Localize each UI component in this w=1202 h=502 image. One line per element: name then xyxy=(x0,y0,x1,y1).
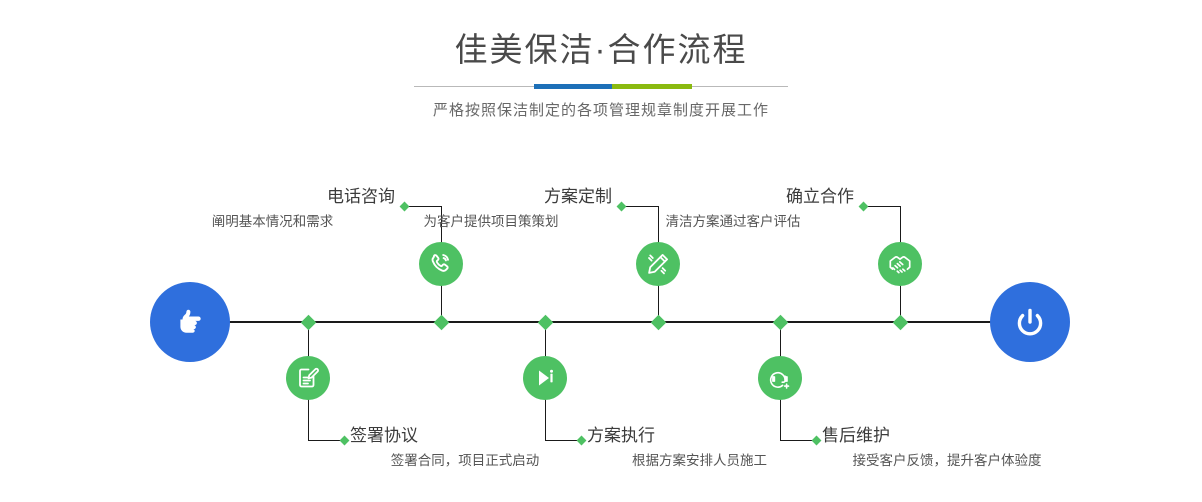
step-label-1: 电话咨询 阐明基本情况和需求 xyxy=(150,186,395,232)
step-desc-2: 签署合同，项目正式启动 xyxy=(350,451,580,471)
timeline: 电话咨询 阐明基本情况和需求 签署协议 xyxy=(0,0,1202,502)
step-title-5: 确立合作 xyxy=(612,186,854,208)
timeline-end-marker xyxy=(990,282,1070,362)
step-icon-circle-6 xyxy=(758,356,802,400)
step-label-5: 确立合作 清洁方案通过客户评估 xyxy=(612,186,854,232)
step-title-2: 签署协议 xyxy=(350,425,580,447)
step-desc-4: 根据方案安排人员施工 xyxy=(587,451,812,471)
timeline-start-marker xyxy=(150,282,230,362)
step-title-4: 方案执行 xyxy=(587,425,812,447)
connector-elbow-5 xyxy=(864,206,900,207)
step-desc-1: 阐明基本情况和需求 xyxy=(150,212,395,232)
step-label-2: 签署协议 签署合同，项目正式启动 xyxy=(350,425,580,471)
timeline-node-marker-6 xyxy=(772,314,788,330)
step-icon-circle-3 xyxy=(636,242,680,286)
step-label-6: 售后维护 接受客户反馈，提升客户体验度 xyxy=(822,425,1072,471)
headset-support-icon xyxy=(767,365,793,391)
step-title-1: 电话咨询 xyxy=(150,186,395,208)
step-desc-3: 为客户提供项目策策划 xyxy=(370,212,612,232)
step-desc-5: 清洁方案通过客户评估 xyxy=(612,212,854,232)
step-title-6: 售后维护 xyxy=(822,425,1072,447)
handshake-icon xyxy=(886,250,914,278)
timeline-node-marker-3 xyxy=(650,314,666,330)
step-icon-circle-1 xyxy=(419,242,463,286)
process-flow-infographic: 佳美保洁·合作流程 严格按照保洁制定的各项管理规章制度开展工作 xyxy=(0,0,1202,502)
document-edit-icon xyxy=(295,365,321,391)
timeline-node-marker-2 xyxy=(300,314,316,330)
pencil-ruler-icon xyxy=(645,251,671,277)
step-desc-6: 接受客户反馈，提升客户体验度 xyxy=(822,451,1072,471)
power-icon xyxy=(1008,300,1052,344)
step-title-3: 方案定制 xyxy=(370,186,612,208)
timeline-node-marker-1 xyxy=(433,314,449,330)
step-label-3: 方案定制 为客户提供项目策策划 xyxy=(370,186,612,232)
pointing-hand-icon xyxy=(168,300,212,344)
step-icon-circle-5 xyxy=(878,242,922,286)
connector-tip-6 xyxy=(812,435,822,445)
step-label-4: 方案执行 根据方案安排人员施工 xyxy=(587,425,812,471)
timeline-node-marker-4 xyxy=(537,314,553,330)
connector-tip-5 xyxy=(859,201,869,211)
timeline-node-marker-5 xyxy=(892,314,908,330)
play-execute-icon xyxy=(532,365,558,391)
phone-call-icon xyxy=(427,250,455,278)
step-icon-circle-2 xyxy=(286,356,330,400)
connector-tip-2 xyxy=(340,435,350,445)
step-icon-circle-4 xyxy=(523,356,567,400)
timeline-axis xyxy=(160,321,1060,323)
